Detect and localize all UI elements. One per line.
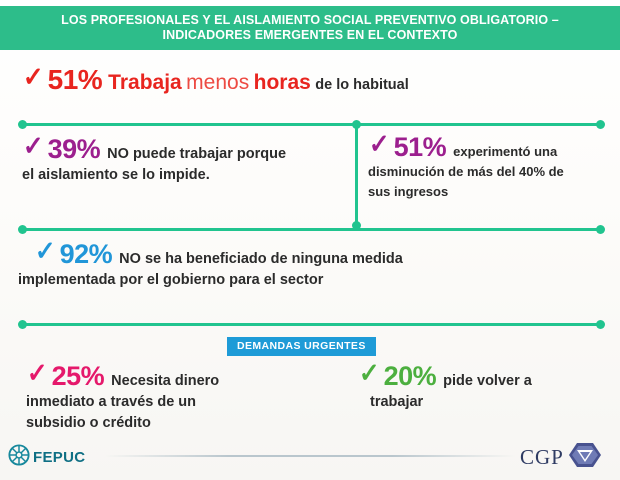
stat-word-trabaja: Trabaja <box>108 71 182 94</box>
stat-percent-20: 20% <box>384 363 437 390</box>
divider-line-bottom <box>22 323 600 326</box>
divider-dot-bottom-left <box>18 320 27 329</box>
stat-block-92-no-benefit: ✓ 92% NO se ha beneficiado de ninguna me… <box>34 241 594 290</box>
stat-percent-39: 39% <box>48 136 101 163</box>
footer-divider <box>105 455 515 457</box>
stat-text-39-line1: NO puede trabajar porque <box>107 145 286 164</box>
divider-line-vertical <box>355 124 358 226</box>
stat-word-horas: horas <box>254 71 311 94</box>
infographic-canvas: LOS PROFESIONALES Y EL AISLAMIENTO SOCIA… <box>0 0 620 480</box>
gear-icon <box>8 444 30 471</box>
fepuc-logo: FEPUC <box>8 444 85 471</box>
divider-line-mid <box>22 228 600 231</box>
stat-text-92-line1: NO se ha beneficiado de ninguna medida <box>119 250 403 269</box>
fepuc-label: FEPUC <box>33 449 85 466</box>
cgp-label: CGP <box>520 445 564 470</box>
stat-text-39-line2: el aislamiento se lo impide. <box>22 166 347 185</box>
stat-text-25-line1: Necesita dinero <box>111 372 219 391</box>
stat-text-20-line1: pide volver a <box>443 372 532 391</box>
header-line-2: INDICADORES EMERGENTES EN EL CONTEXTO <box>163 28 458 43</box>
stat-text-92-line2: implementada por el gobierno para el sec… <box>18 271 594 290</box>
stat-tail-habitual: de lo habitual <box>315 77 408 93</box>
stat-text-25-line3: subsidio o crédito <box>26 414 326 433</box>
stat-text-20-line2: trabajar <box>370 393 608 412</box>
divider-dot-mid-left <box>18 225 27 234</box>
stat-percent-51-hours: 51% <box>48 66 103 93</box>
divider-dot-mid-right <box>596 225 605 234</box>
divider-dot-top-right <box>596 120 605 129</box>
stat-block-39-cannot-work: ✓ 39% NO puede trabajar porque el aislam… <box>22 136 347 185</box>
stat-text-25-line2: inmediato a través de un <box>26 393 326 412</box>
check-icon-purple-1: ✓ <box>23 133 44 159</box>
stat-text-51-income-line2: disminución de más del 40% de <box>368 163 608 181</box>
stat-percent-25: 25% <box>52 363 105 390</box>
divider-line-top <box>22 123 600 126</box>
check-icon-red: ✓ <box>23 64 44 90</box>
stat-block-20-return-work: ✓ 20% pide volver a trabajar <box>358 363 608 412</box>
cgp-logo: CGP <box>520 442 602 473</box>
stat-word-menos: menos <box>186 71 249 94</box>
header-line-1: LOS PROFESIONALES Y EL AISLAMIENTO SOCIA… <box>61 13 559 28</box>
stat-block-51-hours: ✓ 51% Trabaja menos horas de lo habitual <box>22 66 602 95</box>
check-icon-purple-2: ✓ <box>369 131 390 157</box>
hexagon-logo-icon <box>568 442 602 473</box>
check-icon-pink: ✓ <box>27 360 48 386</box>
stat-text-51-income-line3: sus ingresos <box>368 183 608 201</box>
stat-block-51-income-drop: ✓ 51% experimentó una disminución de más… <box>368 134 608 201</box>
page-title: LOS PROFESIONALES Y EL AISLAMIENTO SOCIA… <box>0 6 620 50</box>
stat-block-25-needs-money: ✓ 25% Necesita dinero inmediato a través… <box>26 363 326 433</box>
stat-text-51-income-line1: experimentó una <box>453 143 557 161</box>
stat-percent-92: 92% <box>60 241 113 268</box>
status-badge-demandas-urgentes: DEMANDAS URGENTES <box>227 337 376 356</box>
check-icon-green: ✓ <box>359 360 380 386</box>
divider-dot-bottom-right <box>596 320 605 329</box>
check-icon-blue: ✓ <box>35 238 56 264</box>
stat-percent-51-income: 51% <box>394 134 447 161</box>
divider-dot-top-left <box>18 120 27 129</box>
